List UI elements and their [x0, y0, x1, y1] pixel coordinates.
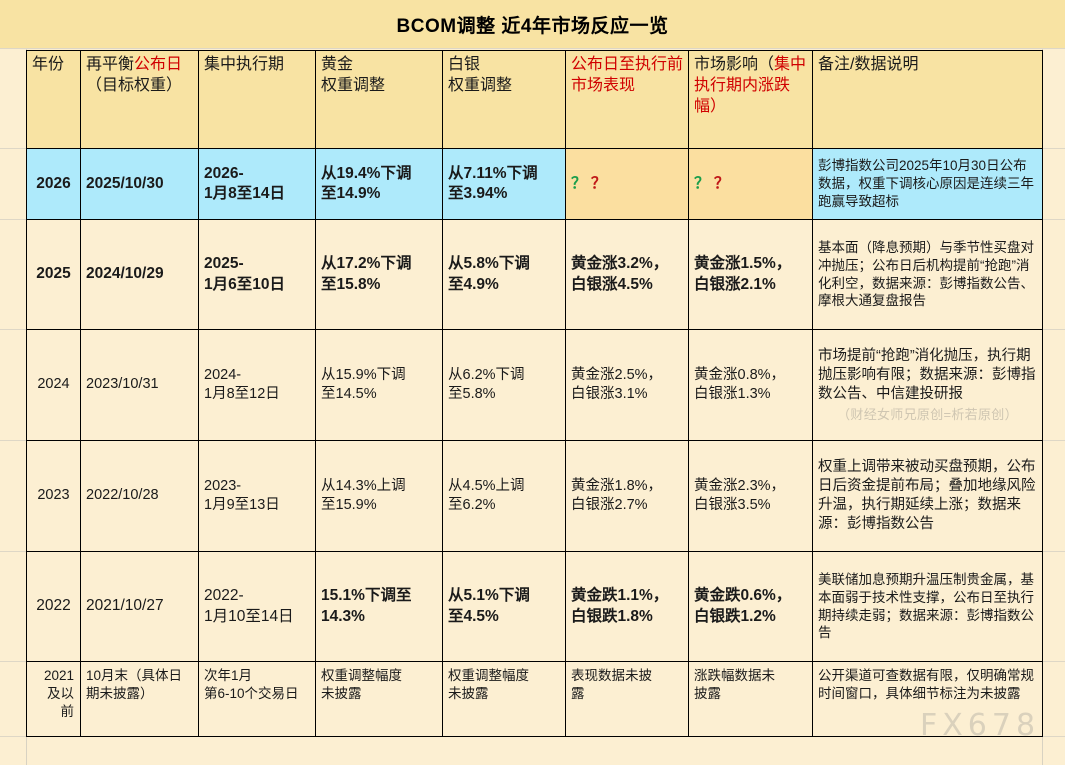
title-bar: BCOM调整 近4年市场反应一览 — [0, 0, 1065, 48]
cell-impact-line1: 黄金涨1.5%， — [694, 254, 807, 274]
cell-window-line1: 2023- — [204, 477, 310, 496]
cell-year-line3: 前 — [32, 703, 74, 721]
column-header-pre-execution-performance: 公布日至执行前市场表现 — [566, 51, 689, 149]
cell-announce-date: 2021/10/27 — [81, 552, 199, 662]
column-header-announce-date: 再平衡公布日（目标权重） — [81, 51, 199, 149]
cell-announce-date: 2022/10/28 — [81, 441, 199, 552]
cell-window-line2: 1月8至12日 — [204, 385, 310, 404]
cell-silver-line2: 至5.8% — [448, 385, 560, 404]
column-header-announce-part3: （目标权重） — [86, 77, 182, 94]
column-header-gold-label: 黄金 — [321, 55, 437, 76]
cell-year: 2026 — [27, 149, 81, 220]
column-header-market-impact-part1: 市场影响（ — [694, 56, 774, 73]
cell-gold-weight: 权重调整幅度 未披露 — [316, 662, 443, 737]
cell-impact-line1: 黄金跌0.6%， — [694, 586, 807, 606]
cell-silver-line1: 从5.8%下调 — [448, 254, 560, 274]
cell-silver-line1: 从5.1%下调 — [448, 586, 560, 606]
cell-silver-line1: 从7.11%下调 — [448, 164, 560, 184]
cell-year-line1: 2021 — [32, 667, 74, 685]
column-header-note-label: 备注/数据说明 — [818, 55, 1037, 76]
column-header-market-impact: 市场影响（集中执行期内涨跌幅） — [689, 51, 813, 149]
cell-note: 美联储加息预期升温压制贵金属，基本面弱于技术性支撑，公布日至执行期持续走弱；数据… — [813, 552, 1043, 662]
cell-execution-window: 2024- 1月8至12日 — [199, 330, 316, 441]
cell-gold-line1: 15.1%下调至 — [321, 586, 437, 606]
cell-execution-window: 2023- 1月9至13日 — [199, 441, 316, 552]
table-row[interactable]: 2024 2023/10/31 2024- 1月8至12日 从15.9%下调 至… — [27, 330, 1043, 441]
cell-silver-weight: 从6.2%下调 至5.8% — [443, 330, 566, 441]
cell-pre-line1: 黄金涨2.5%， — [571, 366, 683, 385]
cell-pre-line1: 表现数据未披 — [571, 667, 683, 685]
cell-window-line1: 2026- — [204, 164, 310, 184]
credit-watermark-text: （财经女师兄原创=析若原创） — [818, 406, 1037, 423]
column-header-silver-label: 白银 — [448, 55, 560, 76]
cell-market-impact: 黄金涨0.8%， 白银涨1.3% — [689, 330, 813, 441]
cell-impact-line1: 涨跌幅数据未 — [694, 667, 807, 685]
cell-pre-line2: 白银涨2.7% — [571, 496, 683, 515]
cell-execution-window: 2025- 1月6至10日 — [199, 220, 316, 330]
cell-pre-execution-performance: 黄金涨1.8%， 白银涨2.7% — [566, 441, 689, 552]
cell-gold-line2: 至14.9% — [321, 184, 437, 204]
cell-gold-weight: 从17.2%下调 至15.8% — [316, 220, 443, 330]
cell-note: 市场提前“抢跑”消化抛压，执行期抛压影响有限；数据来源：彭博指数公告、中信建投研… — [813, 330, 1043, 441]
cell-silver-weight: 从5.1%下调 至4.5% — [443, 552, 566, 662]
cell-pre-question-2: ？ — [591, 175, 607, 192]
cell-market-impact: 黄金跌0.6%， 白银跌1.2% — [689, 552, 813, 662]
cell-execution-window: 2026- 1月8至14日 — [199, 149, 316, 220]
cell-silver-line2: 至4.9% — [448, 275, 560, 295]
cell-gold-weight: 从15.9%下调 至14.5% — [316, 330, 443, 441]
cell-execution-window: 次年1月 第6-10个交易日 — [199, 662, 316, 737]
cell-silver-line1: 从4.5%上调 — [448, 477, 560, 496]
cell-pre-line2: 白银跌1.8% — [571, 607, 683, 627]
cell-window-line2: 1月10至14日 — [204, 607, 310, 627]
cell-pre-line2: 白银涨4.5% — [571, 275, 683, 295]
cell-window-line2: 第6-10个交易日 — [204, 685, 310, 703]
cell-note: 公开渠道可查数据有限，仅明确常规时间窗口，具体细节标注为未披露 — [813, 662, 1043, 737]
column-header-note: 备注/数据说明 — [813, 51, 1043, 149]
cell-silver-weight: 从4.5%上调 至6.2% — [443, 441, 566, 552]
cell-pre-execution-performance: 黄金涨2.5%， 白银涨3.1% — [566, 330, 689, 441]
column-header-execution-window-label: 集中执行期 — [204, 55, 310, 76]
cell-gold-line1: 从14.3%上调 — [321, 477, 437, 496]
cell-market-impact: 黄金涨1.5%， 白银涨2.1% — [689, 220, 813, 330]
cell-gold-line1: 从19.4%下调 — [321, 164, 437, 184]
cell-window-line2: 1月6至10日 — [204, 275, 310, 295]
cell-window-line1: 2024- — [204, 366, 310, 385]
cell-impact-line2: 白银涨3.5% — [694, 496, 807, 515]
cell-silver-line2: 至4.5% — [448, 607, 560, 627]
column-header-announce-part1: 再平衡 — [86, 56, 134, 73]
cell-window-line2: 1月9至13日 — [204, 496, 310, 515]
cell-announce-date: 2025/10/30 — [81, 149, 199, 220]
cell-gold-weight: 从19.4%下调 至14.9% — [316, 149, 443, 220]
cell-silver-weight: 权重调整幅度 未披露 — [443, 662, 566, 737]
column-header-gold: 黄金 权重调整 — [316, 51, 443, 149]
cell-announce-date: 2023/10/31 — [81, 330, 199, 441]
page-title: BCOM调整 近4年市场反应一览 — [397, 11, 669, 38]
cell-market-impact: ？ ？ — [689, 149, 813, 220]
column-header-year-label: 年份 — [32, 55, 75, 76]
sheet-gridline — [0, 48, 1065, 49]
column-header-execution-window: 集中执行期 — [199, 51, 316, 149]
cell-pre-execution-performance: ？ ？ — [566, 149, 689, 220]
cell-market-impact: 涨跌幅数据未 披露 — [689, 662, 813, 737]
sheet-gutter-right — [1042, 48, 1065, 765]
cell-pre-line1: 黄金跌1.1%， — [571, 586, 683, 606]
market-reaction-table-wrapper: 年份 再平衡公布日（目标权重） 集中执行期 黄金 权重调整 白银 权重调整 公布 — [26, 50, 1042, 737]
cell-gold-line2: 至14.5% — [321, 385, 437, 404]
cell-gold-line1: 从15.9%下调 — [321, 366, 437, 385]
cell-gold-weight: 15.1%下调至 14.3% — [316, 552, 443, 662]
cell-impact-line1: 黄金涨2.3%， — [694, 477, 807, 496]
cell-impact-line2: 白银跌1.2% — [694, 607, 807, 627]
cell-pre-line1: 黄金涨1.8%， — [571, 477, 683, 496]
cell-announce-date: 2024/10/29 — [81, 220, 199, 330]
cell-window-line1: 2025- — [204, 254, 310, 274]
cell-silver-weight: 从5.8%下调 至4.9% — [443, 220, 566, 330]
page-canvas: BCOM调整 近4年市场反应一览 年份 再平衡公布日（目标权重） — [0, 0, 1065, 765]
cell-impact-question-2: ？ — [714, 175, 730, 192]
table-row[interactable]: 2025 2024/10/29 2025- 1月6至10日 从17.2%下调 至… — [27, 220, 1043, 330]
cell-note: 基本面（降息预期）与季节性买盘对冲抛压；公布日后机构提前“抢跑”消化利空，数据来… — [813, 220, 1043, 330]
column-header-gold-sublabel: 权重调整 — [321, 76, 437, 97]
column-header-silver: 白银 权重调整 — [443, 51, 566, 149]
cell-pre-execution-performance: 表现数据未披 露 — [566, 662, 689, 737]
cell-window-line1: 次年1月 — [204, 667, 310, 685]
cell-impact-line2: 白银涨1.3% — [694, 385, 807, 404]
table-row[interactable]: 2021 及以 前 10月末（具体日期未披露） 次年1月 第6-10个交易日 权… — [27, 662, 1043, 737]
cell-note: 彭博指数公司2025年10月30日公布数据，权重下调核心原因是连续三年跑赢导致超… — [813, 149, 1043, 220]
cell-window-line1: 2022- — [204, 586, 310, 606]
cell-gold-weight: 从14.3%上调 至15.9% — [316, 441, 443, 552]
column-header-announce-part2: 公布日 — [134, 56, 182, 73]
cell-gold-line2: 至15.8% — [321, 275, 437, 295]
cell-year: 2023 — [27, 441, 81, 552]
column-header-year: 年份 — [27, 51, 81, 149]
cell-impact-line1: 黄金涨0.8%， — [694, 366, 807, 385]
table-header-row: 年份 再平衡公布日（目标权重） 集中执行期 黄金 权重调整 白银 权重调整 公布 — [27, 51, 1043, 149]
cell-silver-line2: 未披露 — [448, 685, 560, 703]
cell-gold-line2: 14.3% — [321, 607, 437, 627]
cell-pre-execution-performance: 黄金涨3.2%， 白银涨4.5% — [566, 220, 689, 330]
sheet-gutter-left — [0, 48, 27, 765]
cell-year: 2022 — [27, 552, 81, 662]
table-row[interactable]: 2022 2021/10/27 2022- 1月10至14日 15.1%下调至 … — [27, 552, 1043, 662]
market-reaction-table: 年份 再平衡公布日（目标权重） 集中执行期 黄金 权重调整 白银 权重调整 公布 — [26, 50, 1043, 737]
cell-year: 2021 及以 前 — [27, 662, 81, 737]
cell-pre-execution-performance: 黄金跌1.1%， 白银跌1.8% — [566, 552, 689, 662]
cell-impact-question-1: ？ — [694, 175, 710, 192]
column-header-pre-execution-label: 公布日至执行前市场表现 — [571, 56, 683, 94]
cell-silver-weight: 从7.11%下调 至3.94% — [443, 149, 566, 220]
cell-impact-line2: 白银涨2.1% — [694, 275, 807, 295]
cell-silver-line1: 从6.2%下调 — [448, 366, 560, 385]
cell-silver-line2: 至6.2% — [448, 496, 560, 515]
column-header-silver-sublabel: 权重调整 — [448, 76, 560, 97]
cell-gold-line2: 未披露 — [321, 685, 437, 703]
cell-pre-line2: 露 — [571, 685, 683, 703]
cell-gold-line2: 至15.9% — [321, 496, 437, 515]
cell-silver-line2: 至3.94% — [448, 184, 560, 204]
cell-pre-line1: 黄金涨3.2%， — [571, 254, 683, 274]
cell-gold-line1: 权重调整幅度 — [321, 667, 437, 685]
cell-impact-line2: 披露 — [694, 685, 807, 703]
cell-note-text: 市场提前“抢跑”消化抛压，执行期抛压影响有限；数据来源：彭博指数公告、中信建投研… — [818, 348, 1036, 402]
cell-year: 2025 — [27, 220, 81, 330]
cell-pre-line2: 白银涨3.1% — [571, 385, 683, 404]
cell-pre-question-1: ？ — [571, 175, 587, 192]
cell-silver-line1: 权重调整幅度 — [448, 667, 560, 685]
cell-window-line2: 1月8至14日 — [204, 184, 310, 204]
cell-execution-window: 2022- 1月10至14日 — [199, 552, 316, 662]
table-row[interactable]: 2023 2022/10/28 2023- 1月9至13日 从14.3%上调 至… — [27, 441, 1043, 552]
cell-market-impact: 黄金涨2.3%， 白银涨3.5% — [689, 441, 813, 552]
cell-year: 2024 — [27, 330, 81, 441]
cell-gold-line1: 从17.2%下调 — [321, 254, 437, 274]
table-row[interactable]: 2026 2025/10/30 2026- 1月8至14日 从19.4%下调 至… — [27, 149, 1043, 220]
cell-note: 权重上调带来被动买盘预期，公布日后资金提前布局；叠加地缘风险升温，执行期延续上涨… — [813, 441, 1043, 552]
cell-announce-date: 10月末（具体日期未披露） — [81, 662, 199, 737]
cell-year-line2: 及以 — [32, 685, 74, 703]
